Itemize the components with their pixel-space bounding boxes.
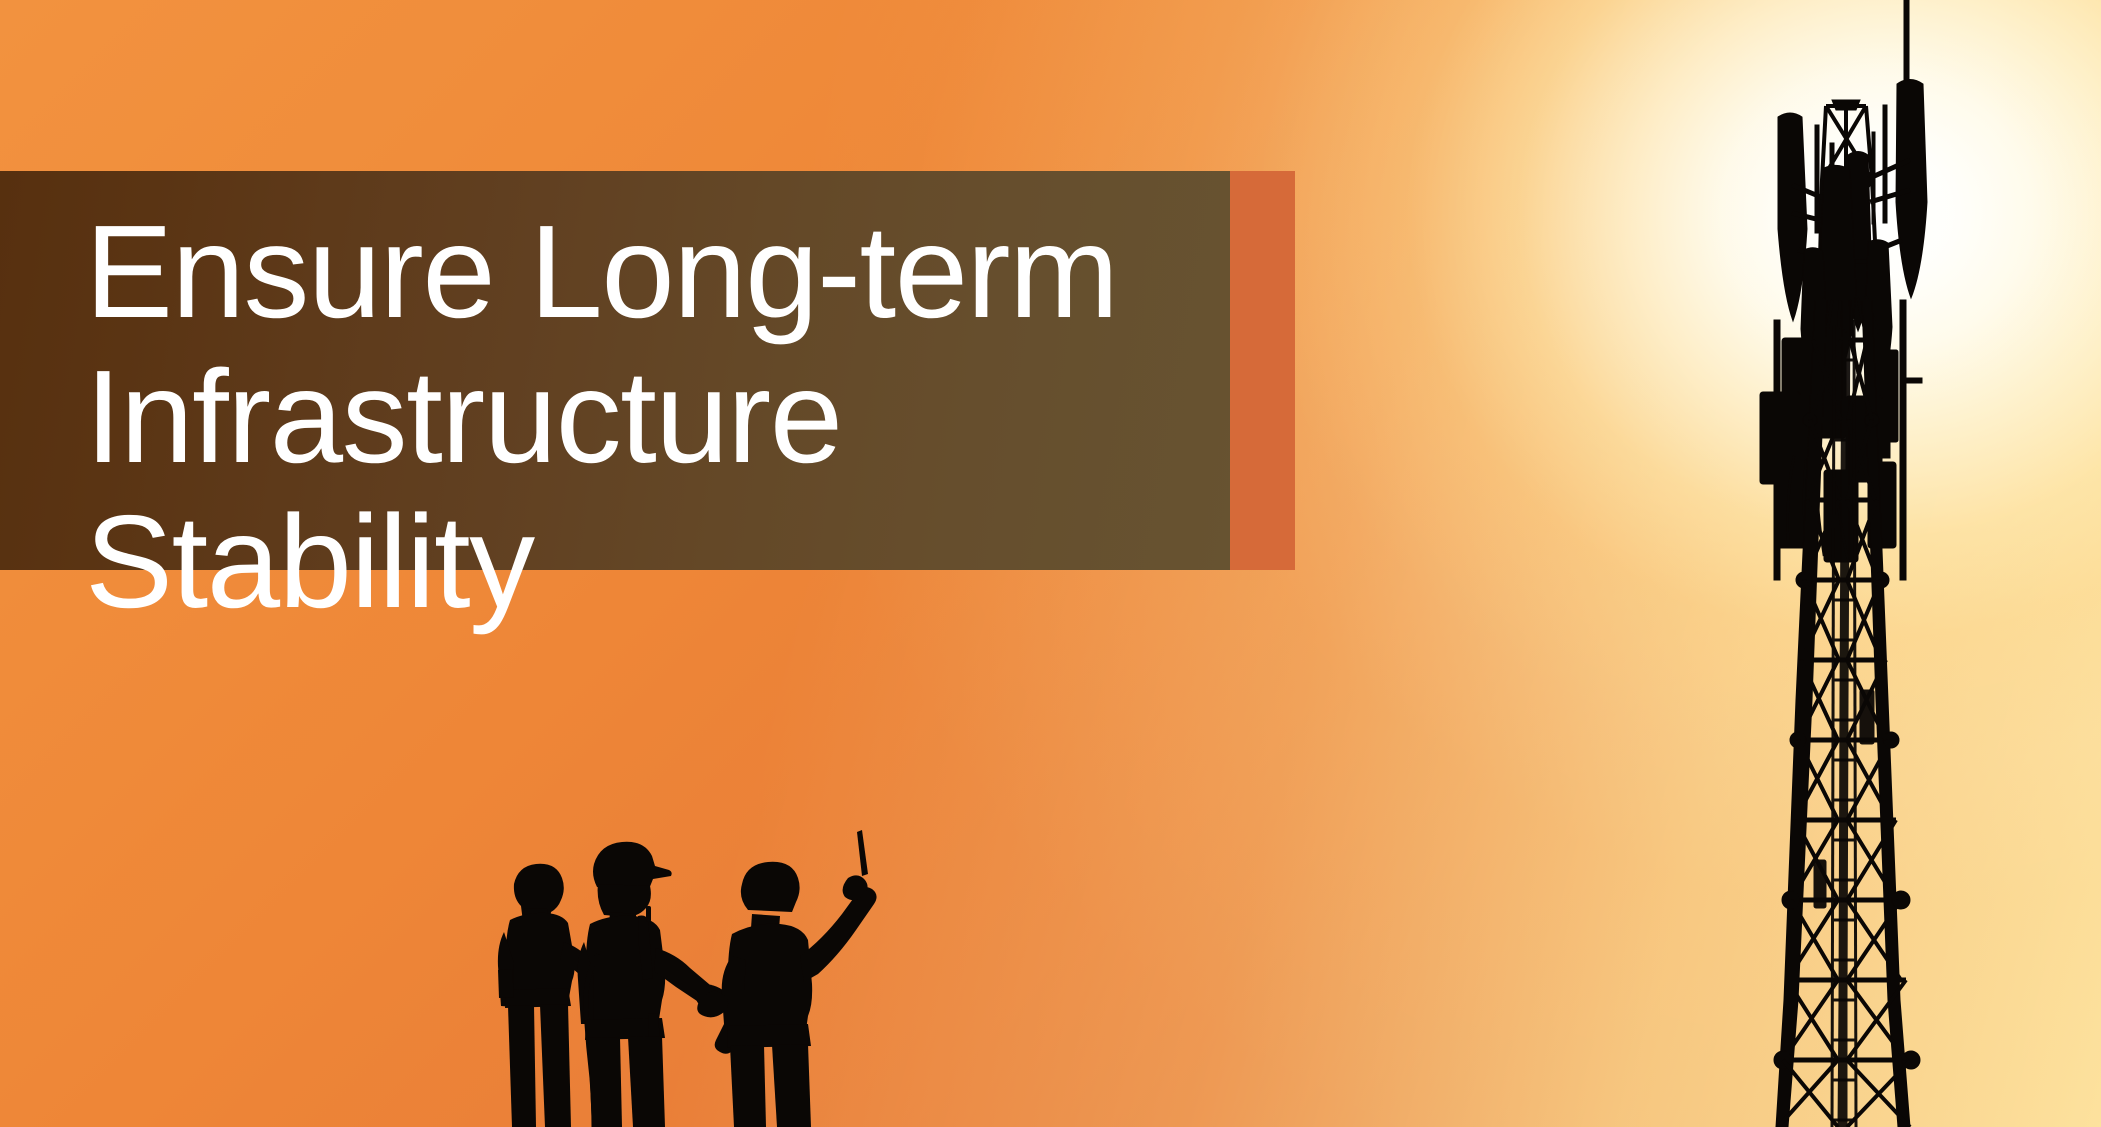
cell-tower-silhouette [1720,0,2101,1127]
three-technicians-silhouette [470,820,890,1127]
page-title: Ensure Long-term Infrastructure Stabilit… [85,199,1230,634]
slide-canvas: Ensure Long-term Infrastructure Stabilit… [0,0,2101,1127]
worker-center [578,842,730,1127]
worker-right [697,830,876,1127]
title-banner-accent-bar [1230,171,1295,570]
